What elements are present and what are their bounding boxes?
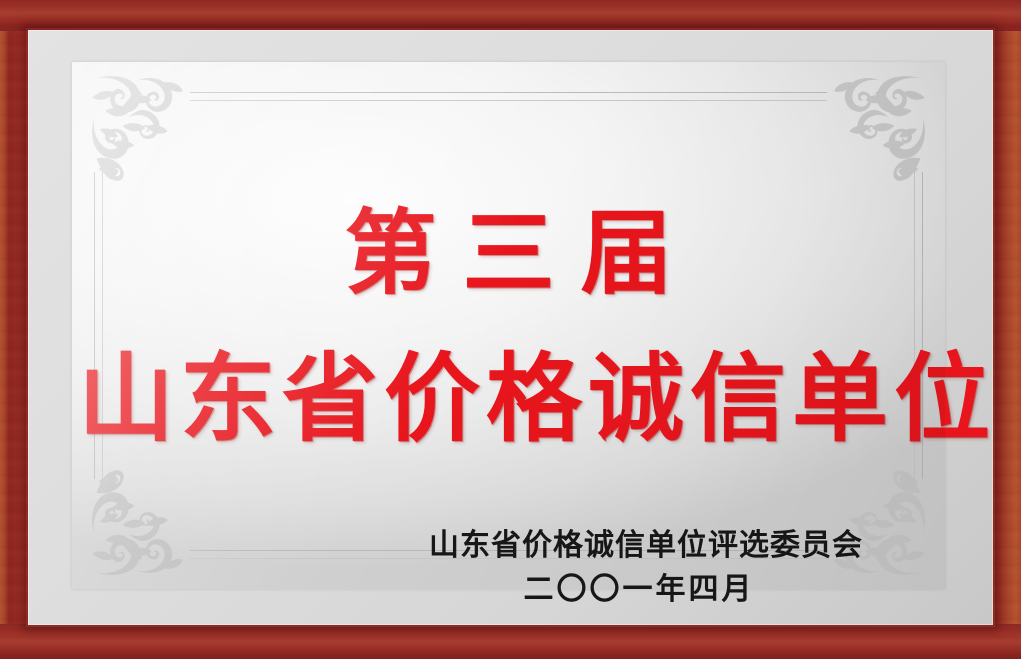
issue-date: 二〇〇一年四月 [429,568,849,612]
signature-block: 山东省价格诚信单位评选委员会 二〇〇一年四月 [429,524,849,612]
plaque-content: 第三届 山东省价格诚信单位 山东省价格诚信单位评选委员会 二〇〇一年四月 [72,62,945,589]
mat-board: 第三届 山东省价格诚信单位 山东省价格诚信单位评选委员会 二〇〇一年四月 [28,30,993,625]
issuing-authority: 山东省价格诚信单位评选委员会 [429,524,849,568]
award-plaque: 第三届 山东省价格诚信单位 山东省价格诚信单位评选委员会 二〇〇一年四月 [0,0,1021,659]
award-title-line-2: 山东省价格诚信单位 [72,348,945,452]
award-title-line-1: 第三届 [72,204,945,303]
inner-panel: 第三届 山东省价格诚信单位 山东省价格诚信单位评选委员会 二〇〇一年四月 [72,62,945,589]
frame-top-rail [0,0,1021,31]
frame-bottom-rail [0,624,1021,659]
